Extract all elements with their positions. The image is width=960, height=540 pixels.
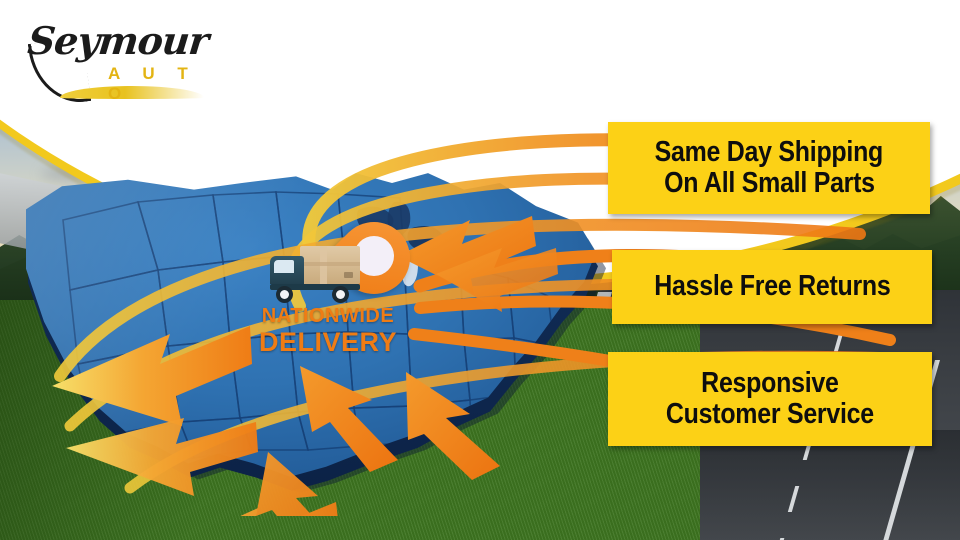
truck-box-label <box>344 272 353 278</box>
banner-3-line-2: Customer Service <box>666 399 874 430</box>
nationwide-delivery-caption: NATIONWIDE DELIVERY <box>258 306 398 356</box>
promo-banner-image: Seymour A U T O <box>0 0 960 540</box>
feature-banner-shipping: Same Day Shipping On All Small Parts <box>608 122 930 214</box>
truck-wheel <box>276 286 293 303</box>
feature-banner-service: Responsive Customer Service <box>608 352 932 446</box>
brand-name: Seymour <box>26 18 211 63</box>
banner-1-line-2: On All Small Parts <box>664 168 875 199</box>
caption-line-2: DELIVERY <box>258 329 398 356</box>
brand-logo: Seymour A U T O <box>22 14 222 98</box>
banner-2-line-1: Hassle Free Returns <box>654 271 890 302</box>
truck-box-seam <box>300 262 360 266</box>
banner-1-line-1: Same Day Shipping <box>655 137 883 168</box>
brand-subtitle: A U T O <box>108 64 222 104</box>
truck-window <box>274 260 294 273</box>
banner-3-line-1: Responsive <box>701 368 838 399</box>
truck-wheel <box>332 286 349 303</box>
feature-banner-returns: Hassle Free Returns <box>612 250 932 324</box>
delivery-truck-icon <box>268 244 364 306</box>
caption-line-1: NATIONWIDE <box>258 306 398 326</box>
